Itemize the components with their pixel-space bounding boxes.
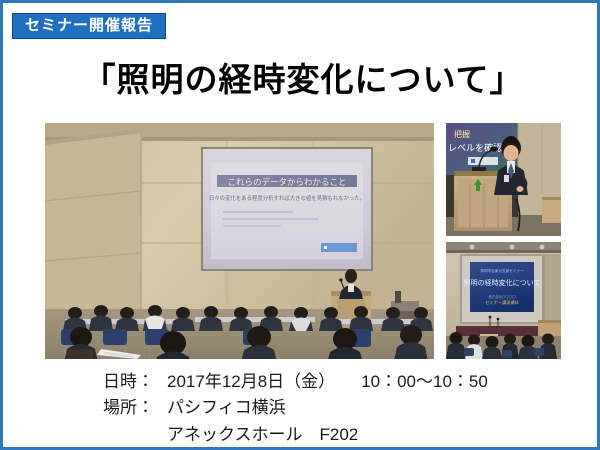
page-title: 「照明の経時変化について」 [3, 53, 600, 101]
photo-main-lecture-hall: これらのデータからわかること 日々の変化をある程度分析すれば大きな値を見積もれな… [45, 123, 434, 359]
section-badge: セミナー開催報告 [12, 13, 166, 39]
photo-gallery: これらのデータからわかること 日々の変化をある程度分析すれば大きな値を見積もれな… [45, 123, 561, 359]
detail-row-venue-detail: アネックスホール F202 [103, 422, 488, 448]
slide-page: セミナー開催報告 「照明の経時変化について」 [0, 0, 600, 450]
photo-speaker-podium: 把握 レベルを確認す [446, 123, 561, 236]
venue-detail-value: アネックスホール F202 [167, 422, 358, 448]
detail-row-venue: 場所： パシフィコ横浜 [103, 395, 488, 421]
datetime-date: 2017年12月8日（金） [167, 372, 335, 391]
venue-value: パシフィコ横浜 [167, 395, 286, 421]
datetime-label: 日時： [103, 369, 167, 395]
datetime-time: 10：00～10：50 [361, 372, 488, 391]
tr-slide-text-1: 把握 [454, 129, 470, 139]
photo-screen-audience: 照明学会東京支部セミナー 照明の経時変化について 株式会社〇〇〇〇 セミナー講演… [446, 242, 561, 359]
detail-row-datetime: 日時： 2017年12月8日（金）10：00～10：50 [103, 369, 488, 395]
svg-text:照明学会東京支部セミナー: 照明学会東京支部セミナー [480, 268, 524, 273]
svg-text:株式会社〇〇〇〇: 株式会社〇〇〇〇 [488, 294, 516, 299]
datetime-value: 2017年12月8日（金）10：00～10：50 [167, 369, 488, 395]
event-details: 日時： 2017年12月8日（金）10：00～10：50 場所： パシフィコ横浜… [103, 369, 488, 448]
br-slide-title-text: 照明の経時変化について [464, 278, 541, 287]
svg-text:セミナー講演資料: セミナー講演資料 [485, 299, 519, 306]
venue-label: 場所： [103, 395, 167, 421]
